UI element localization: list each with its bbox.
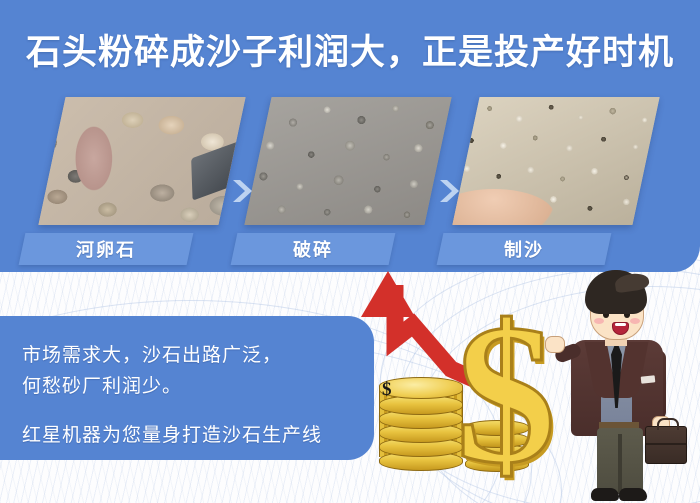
blush-left [594,318,604,324]
profit-illustration: $ $ [355,265,700,503]
manufactured-sand-photo [452,97,659,225]
left-hand [545,336,565,353]
shoe-right [619,488,647,501]
message-line-2: 何愁砂厂利润少。 [22,371,182,398]
message-card: 市场需求大，沙石出路广泛， 何愁砂厂利润少。 红星机器为您量身打造沙石生产线 [0,316,374,460]
crushed-gravel-photo [244,97,451,225]
hand-holding-sand [452,189,554,225]
process-label-text: 河卵石 [76,236,136,262]
chevron-right-icon [231,178,255,204]
coin-dollar-symbol: $ [382,379,392,401]
process-image-river-pebbles [38,97,245,225]
businessman-figure [557,270,677,503]
message-line-3: 红星机器为您量身打造沙石生产线 [22,420,322,447]
river-pebbles-photo [38,97,245,225]
page-title: 石头粉碎成沙子利润大，正是投产好时机 [0,24,700,75]
promo-banner: 石头粉碎成沙子利润大，正是投产好时机 河卵石 破碎 制沙 市场需求大，沙石出路广… [0,0,700,503]
process-label-text: 制沙 [504,236,544,262]
process-label-crushing: 破碎 [231,233,396,265]
trousers [597,428,643,494]
process-image-sand [452,97,659,225]
process-label-text: 破碎 [293,236,333,262]
pocket-square [641,375,656,383]
message-line-1: 市场需求大，沙石出路广泛， [22,340,282,367]
smiling-mouth [612,322,629,335]
chevron-right-icon [438,178,462,204]
process-image-crushed-gravel [244,97,451,225]
process-label-sand-making: 制沙 [437,233,612,265]
hair [585,270,647,314]
blush-right [630,318,640,324]
briefcase-icon [645,426,687,464]
process-label-river-pebbles: 河卵石 [19,233,194,265]
shoe-left [591,488,619,501]
